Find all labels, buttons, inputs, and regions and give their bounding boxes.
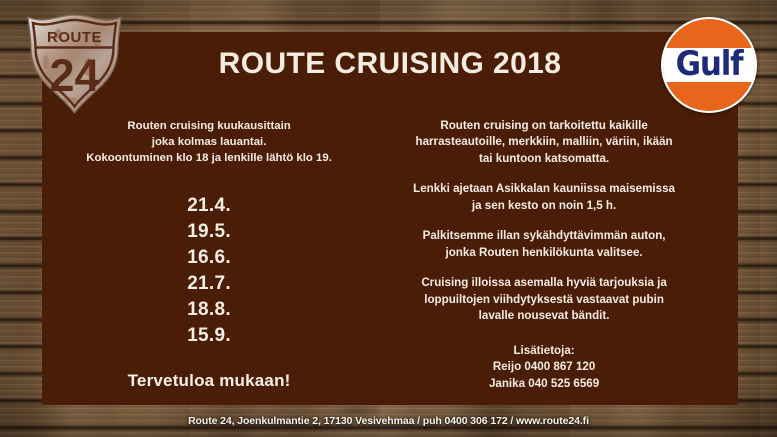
list-item: 15.9.	[56, 323, 362, 349]
cruising-date-list: 21.4. 19.5. 16.6. 21.7. 18.8. 15.9.	[56, 193, 362, 349]
schedule-intro-line-3: Kokoontuminen klo 18 ja lenkille lähtö k…	[86, 152, 332, 164]
footer-bar: Route 24, Joenkulmantie 2, 17130 Vesiveh…	[0, 405, 777, 437]
schedule-intro-line-1: Routen cruising kuukausittain	[127, 120, 290, 132]
footer-contact-line: Route 24, Joenkulmantie 2, 17130 Vesiveh…	[188, 415, 589, 427]
contact-person-2: Janika 040 525 6569	[362, 376, 726, 393]
content-columns: Routen cruising kuukausittain joka kolma…	[42, 118, 738, 400]
list-item: 18.8.	[56, 297, 362, 323]
poster-root: ROUTE 24 Gulf ROUTE CRUISING 2018 Routen…	[0, 0, 777, 437]
info-4-line-2: loppuiltojen viihdytyksestä vastaavat pu…	[424, 293, 664, 306]
info-1-line-1: Routen cruising on tarkoitettu kaikille	[440, 119, 647, 132]
info-4-line-1: Cruising illoissa asemalla hyviä tarjouk…	[421, 276, 667, 289]
list-item: 21.4.	[56, 193, 362, 219]
left-column: Routen cruising kuukausittain joka kolma…	[42, 118, 362, 400]
list-item: 19.5.	[56, 219, 362, 245]
list-item: 16.6.	[56, 245, 362, 271]
info-3-line-2: jonka Routen henkilökunta valitsee.	[446, 246, 643, 259]
info-3-line-1: Palkitsemme illan sykähdyttävimmän auton…	[423, 229, 666, 242]
info-1-line-2: harrasteautoille, merkkiin, malliin, vär…	[416, 135, 673, 148]
info-2-line-2: ja sen kesto on noin 1,5 h.	[472, 199, 616, 212]
schedule-intro-paragraph: Routen cruising kuukausittain joka kolma…	[56, 118, 362, 167]
schedule-intro-line-2: joka kolmas lauantai.	[152, 136, 267, 148]
contact-block: Lisätietoja: Reijo 0400 867 120 Janika 0…	[362, 343, 726, 393]
contact-person-1: Reijo 0400 867 120	[362, 359, 726, 376]
right-column: Routen cruising on tarkoitettu kaikille …	[362, 118, 738, 400]
info-1-line-3: tai kuntoon katsomatta.	[479, 152, 609, 165]
info-paragraph-3: Palkitsemme illan sykähdyttävimmän auton…	[362, 228, 726, 261]
info-2-line-1: Lenkki ajetaan Asikkalan kauniissa maise…	[413, 182, 675, 195]
list-item: 21.7.	[56, 271, 362, 297]
info-paragraph-2: Lenkki ajetaan Asikkalan kauniissa maise…	[362, 181, 726, 214]
info-4-line-3: lavalle nousevat bändit.	[479, 309, 610, 322]
contact-heading: Lisätietoja:	[362, 343, 726, 360]
info-paragraph-1: Routen cruising on tarkoitettu kaikille …	[362, 118, 726, 167]
welcome-message: Tervetuloa mukaan!	[56, 371, 362, 391]
page-title: ROUTE CRUISING 2018	[42, 47, 738, 81]
info-paragraph-4: Cruising illoissa asemalla hyviä tarjouk…	[362, 275, 726, 324]
